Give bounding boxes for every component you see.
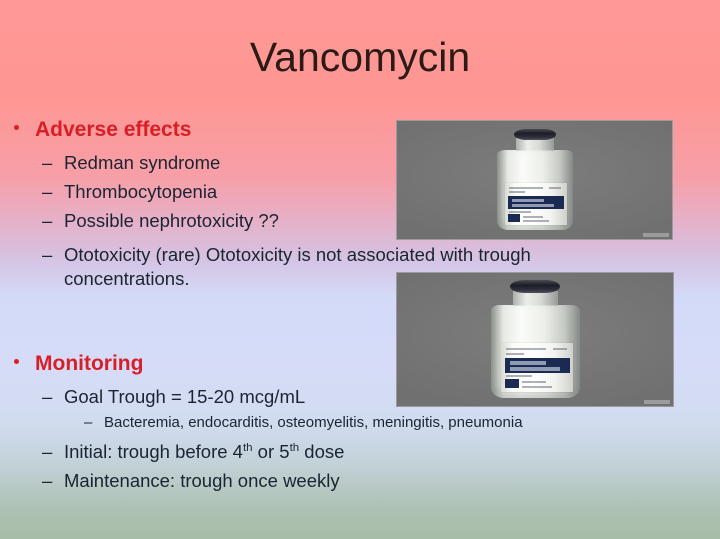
- vial-body: [491, 305, 580, 398]
- section-heading-label: Monitoring: [35, 352, 143, 375]
- bullet-point-icon: [14, 359, 19, 364]
- list-item-label: Thrombocytopenia: [64, 181, 217, 202]
- list-item: – Possible nephrotoxicity ??: [0, 209, 396, 233]
- photo-watermark: [644, 400, 670, 404]
- list-item-label: Initial: trough before 4th or 5th dose: [64, 441, 344, 462]
- label-text-line: [522, 386, 552, 388]
- ordinal-suffix-fourth: th: [243, 442, 253, 454]
- list-item: – Maintenance: trough once weekly: [0, 469, 660, 493]
- list-item: – Redman syndrome: [0, 151, 396, 175]
- dash-bullet-icon: –: [42, 209, 52, 233]
- dash-bullet-icon: –: [42, 440, 52, 464]
- label-text-line: [509, 187, 543, 189]
- band-text-line: [510, 367, 560, 371]
- label-text-line: [506, 348, 546, 350]
- photo-backdrop: [397, 121, 672, 239]
- label-text-line: [506, 353, 524, 355]
- photo-watermark: [643, 233, 669, 237]
- section-adverse-effects: Adverse effects – Redman syndrome – Thro…: [0, 118, 396, 233]
- label-logo: [508, 214, 520, 222]
- vial-body: [497, 150, 573, 230]
- bullet-point-icon: [14, 125, 19, 130]
- vial-neck: [513, 291, 558, 306]
- dash-bullet-icon: –: [42, 243, 52, 267]
- band-text-line: [510, 361, 546, 365]
- label-logo: [505, 379, 519, 388]
- vancomycin-vial-photo-bottom: [396, 272, 674, 407]
- label-text-line: [522, 381, 546, 383]
- label-blue-band: [508, 196, 564, 209]
- label-text-line: [509, 211, 531, 213]
- photo-backdrop: [397, 273, 673, 406]
- list-item-label: Redman syndrome: [64, 152, 220, 173]
- page-title: Vancomycin: [0, 36, 720, 79]
- dash-bullet-icon: –: [42, 180, 52, 204]
- label-text-line: [553, 348, 567, 350]
- list-item: – Thrombocytopenia: [0, 180, 396, 204]
- list-item-label: Possible nephrotoxicity ??: [64, 210, 279, 231]
- list-item-label: Goal Trough = 15-20 mcg/mL: [64, 386, 305, 407]
- list-item: – Initial: trough before 4th or 5th dose: [0, 440, 660, 464]
- sub-list-item: – Bacteremia, endocarditis, osteomyeliti…: [0, 413, 660, 433]
- label-text-line: [523, 220, 549, 222]
- list-item-label: Maintenance: trough once weekly: [64, 470, 340, 491]
- band-text-line: [512, 204, 554, 207]
- label-blue-band: [505, 358, 570, 373]
- band-text-line: [512, 199, 544, 202]
- dash-bullet-icon: –: [84, 413, 92, 433]
- sub-list-item-label: Bacteremia, endocarditis, osteomyelitis,…: [104, 414, 523, 431]
- initial-prefix: Initial: trough before 4: [64, 441, 243, 462]
- dash-bullet-icon: –: [42, 151, 52, 175]
- dash-bullet-icon: –: [42, 469, 52, 493]
- vial-cap: [514, 129, 556, 140]
- initial-suffix: dose: [299, 441, 344, 462]
- vial-label: [501, 343, 573, 392]
- label-text-line: [509, 191, 525, 193]
- slide-canvas: Vancomycin Adverse effects – Redman synd…: [0, 0, 720, 539]
- label-text-line: [523, 216, 543, 218]
- label-text-line: [549, 187, 561, 189]
- section-heading-adverse-effects: Adverse effects: [0, 118, 396, 142]
- dash-bullet-icon: –: [42, 385, 52, 409]
- vancomycin-vial-photo-top: [396, 120, 673, 240]
- section-heading-label: Adverse effects: [35, 118, 191, 141]
- vial-cap: [510, 280, 560, 293]
- initial-middle: or 5: [253, 441, 290, 462]
- vial-label: [505, 183, 567, 225]
- vancomycin-vial-illustration: [485, 280, 585, 398]
- vancomycin-vial-illustration: [492, 129, 578, 230]
- ordinal-suffix-fifth: th: [290, 442, 300, 454]
- label-text-line: [506, 375, 532, 377]
